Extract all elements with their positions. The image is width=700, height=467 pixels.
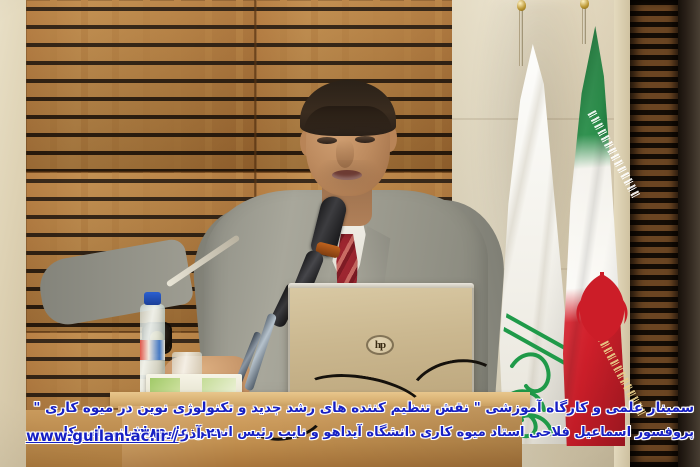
wall-dark-edge [678, 0, 700, 467]
flagpole-finial-iran [580, 0, 589, 9]
mouth [332, 170, 362, 180]
hp-logo-icon: hp [366, 335, 394, 355]
hair [300, 80, 396, 136]
stone-wall-left [0, 0, 26, 467]
eye-left [317, 137, 337, 144]
flagpole-finial-white [517, 0, 526, 11]
seminar-photo: hp سمینار علمی و کارگاه آموزشی " نقش تنظ… [0, 0, 700, 467]
caption-website-link[interactable]: www.guilan.ac.ir / [26, 427, 178, 445]
caption-title: سمینار علمی و کارگاه آموزشی " نقش تنظیم … [33, 400, 694, 416]
water-bottle-label [140, 340, 165, 360]
flagpole-white [519, 6, 523, 66]
iran-flag-emblem [572, 268, 632, 354]
nose [336, 140, 354, 168]
eye-right [355, 136, 375, 143]
flagpole-iran [582, 4, 586, 44]
